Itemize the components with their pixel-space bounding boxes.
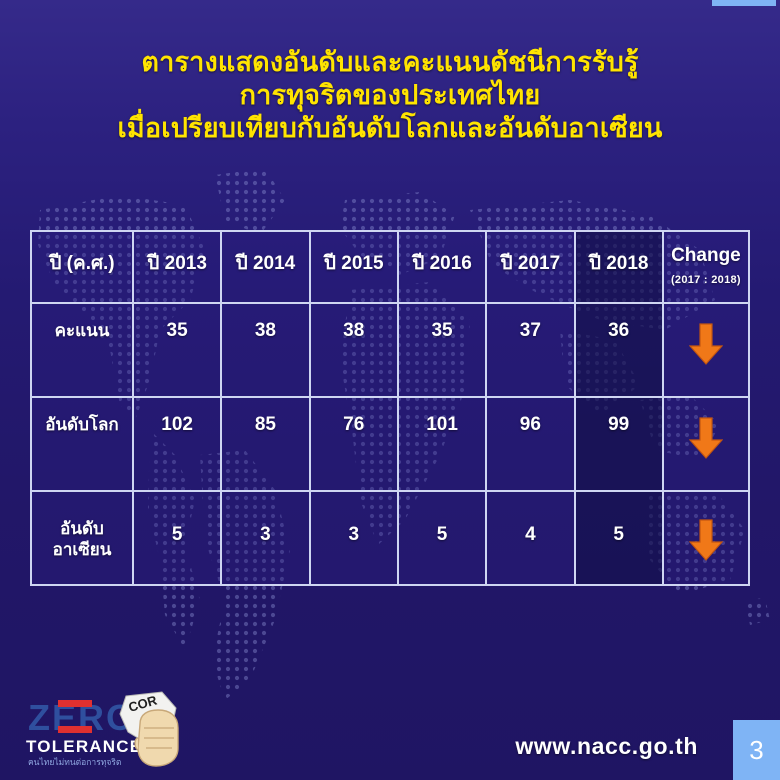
cell-asean-2013: 5 [133,491,221,585]
cell-score-2015: 38 [310,303,398,397]
cell-world-change [663,397,749,491]
title-line-3: เมื่อเปรียบเทียบกับอันดับโลกและอันดับอาเ… [0,112,780,145]
cell-world-2016: 101 [398,397,486,491]
column-header-2014: ปี 2014 [221,231,309,303]
table-row: อันดับโลก 102 85 76 101 96 99 [31,397,749,491]
change-header-sublabel: (2017 : 2018) [664,274,748,286]
column-header-2016: ปี 2016 [398,231,486,303]
cell-world-2014: 85 [221,397,309,491]
cell-score-2017: 37 [486,303,574,397]
cpi-table-container: ปี (ค.ศ.) ปี 2013 ปี 2014 ปี 2015 ปี 201… [30,230,750,585]
cell-world-2015: 76 [310,397,398,491]
column-header-year-label: ปี (ค.ศ.) [31,231,133,303]
title-line-1: ตารางแสดงอันดับและคะแนนดัชนีการรับรู้ [0,46,780,79]
column-header-2018: ปี 2018 [575,231,663,303]
row-label-world-rank: อันดับโลก [31,397,133,491]
asean-label-line-1: อันดับ [60,519,104,538]
column-header-2017: ปี 2017 [486,231,574,303]
arrow-down-icon [689,416,723,460]
cell-score-2018: 36 [575,303,663,397]
cell-asean-2014: 3 [221,491,309,585]
cell-world-2018: 99 [575,397,663,491]
change-header-label: Change [671,245,741,266]
cell-score-2016: 35 [398,303,486,397]
page-number-badge: 3 [733,720,780,780]
table-row: อันดับ อาเซียน 5 3 3 5 4 5 [31,491,749,585]
cell-score-change [663,303,749,397]
page-title: ตารางแสดงอันดับและคะแนนดัชนีการรับรู้ กา… [0,46,780,145]
cell-world-2013: 102 [133,397,221,491]
cell-asean-2015: 3 [310,491,398,585]
row-label-asean-rank: อันดับ อาเซียน [31,491,133,585]
logo-word-tolerance-text: TOLERANCE [26,737,142,756]
table-header-row: ปี (ค.ศ.) ปี 2013 ปี 2014 ปี 2015 ปี 201… [31,231,749,303]
column-header-change: Change (2017 : 2018) [663,231,749,303]
cell-world-2017: 96 [486,397,574,491]
logo-thai-slogan-text: คนไทยไม่ทนต่อการทุจริต [28,757,121,768]
zero-tolerance-logo: ZERO TOLERANCE คนไทยไม่ทนต่อการทุจริต CO… [22,688,202,770]
cell-score-2014: 38 [221,303,309,397]
cpi-table: ปี (ค.ศ.) ปี 2013 ปี 2014 ปี 2015 ปี 201… [30,230,750,586]
fist-icon [135,710,178,766]
arrow-down-icon [689,518,723,562]
table-row: คะแนน 35 38 38 35 37 36 [31,303,749,397]
asean-label-line-2: อาเซียน [53,540,112,559]
cell-asean-change [663,491,749,585]
top-accent-bar [712,0,776,6]
cell-asean-2016: 5 [398,491,486,585]
column-header-2013: ปี 2013 [133,231,221,303]
cell-asean-2017: 4 [486,491,574,585]
arrow-down-icon [689,322,723,366]
cell-score-2013: 35 [133,303,221,397]
cell-asean-2018: 5 [575,491,663,585]
row-label-score: คะแนน [31,303,133,397]
column-header-2015: ปี 2015 [310,231,398,303]
slide-root: ตารางแสดงอันดับและคะแนนดัชนีการรับรู้ กา… [0,0,780,780]
website-url[interactable]: www.nacc.go.th [515,733,698,760]
title-line-2: การทุจริตของประเทศไทย [0,79,780,112]
